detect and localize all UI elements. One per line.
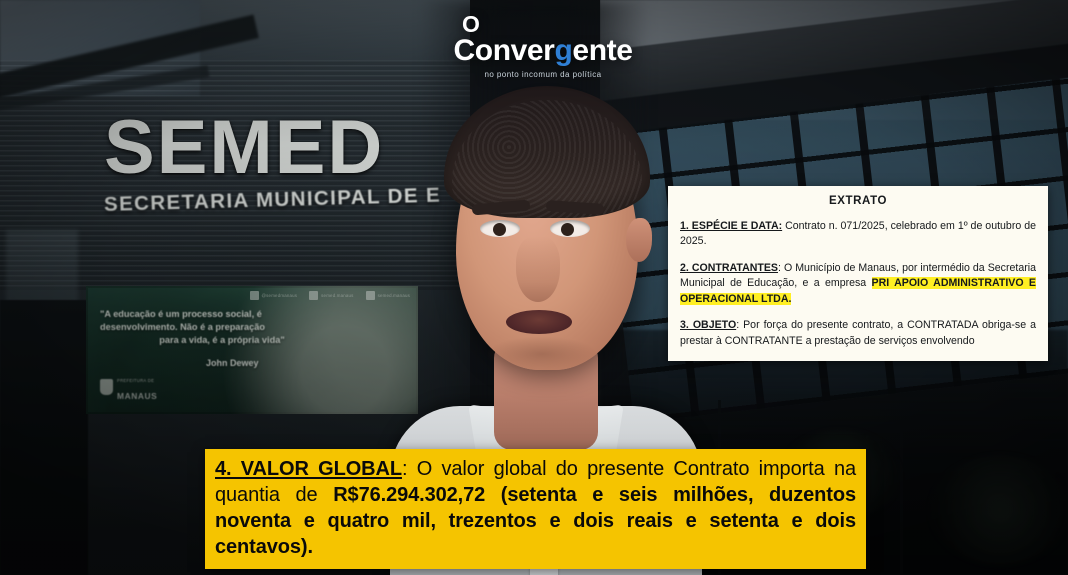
logo-wordmark: Convergente bbox=[453, 36, 633, 66]
document-title: EXTRATO bbox=[680, 195, 1036, 207]
mouth bbox=[506, 310, 572, 334]
chin-shadow bbox=[486, 336, 598, 372]
ear bbox=[626, 218, 652, 262]
banner-quote-author: John Dewey bbox=[206, 358, 259, 368]
logo-word-after: ente bbox=[572, 34, 632, 67]
label-especie-e-data: 1. ESPÉCIE E DATA: bbox=[680, 220, 782, 232]
contract-extract-panel: EXTRATO 1. ESPÉCIE E DATA: Contrato n. 0… bbox=[668, 186, 1048, 361]
callout-label: 4. VALOR GLOBAL bbox=[215, 458, 402, 480]
valor-global-callout: 4. VALOR GLOBAL: O valor global do prese… bbox=[205, 449, 866, 569]
manaus-city-logo: PREFEITURA DE MANAUS bbox=[100, 370, 157, 404]
nose bbox=[516, 236, 560, 302]
document-paragraph-contratantes: 2. CONTRATANTES: O Município de Manaus, … bbox=[680, 261, 1036, 307]
pupil-left bbox=[493, 223, 506, 236]
document-paragraph-objeto: 3. OBJETO: Por força do presente contrat… bbox=[680, 318, 1036, 349]
quote-line-3: para a vida, é a própria vida" bbox=[100, 334, 330, 347]
city-logo-top-text: PREFEITURA DE bbox=[117, 378, 154, 383]
news-graphic-composite: SEMED SECRETARIA MUNICIPAL DE E @semedma… bbox=[0, 0, 1068, 575]
pupil-right bbox=[561, 223, 574, 236]
banner-quote: "A educação é um processo social, é dese… bbox=[100, 308, 330, 347]
light-pole-secondary bbox=[900, 430, 903, 575]
label-objeto: 3. OBJETO bbox=[680, 319, 736, 331]
hair bbox=[444, 86, 650, 218]
facebook-icon: semed.manaus bbox=[309, 291, 353, 300]
quote-line-2: desenvolvimento. Não é a preparação bbox=[100, 322, 265, 332]
callout-body: 4. VALOR GLOBAL: O valor global do prese… bbox=[215, 456, 856, 560]
facebook-handle: semed.manaus bbox=[321, 293, 353, 298]
dewey-quote-banner: @semedmanaus semed.manaus semed.manaus "… bbox=[86, 286, 418, 414]
banner-social-row: @semedmanaus semed.manaus semed.manaus bbox=[250, 291, 411, 300]
logo-tagline: no ponto incomum da política bbox=[453, 71, 633, 79]
quote-line-1: "A educação é um processo social, é bbox=[100, 309, 262, 319]
label-contratantes: 2. CONTRATANTES bbox=[680, 262, 778, 274]
twitter-handle: @semedmanaus bbox=[262, 293, 298, 298]
twitter-icon: @semedmanaus bbox=[250, 291, 298, 300]
crest-icon bbox=[100, 379, 113, 395]
document-paragraph-especie-data: 1. ESPÉCIE E DATA: Contrato n. 071/2025,… bbox=[680, 219, 1036, 250]
logo-word-g-accent: g bbox=[554, 34, 572, 67]
site-logo[interactable]: O Convergente no ponto incomum da políti… bbox=[453, 14, 633, 79]
logo-o-letter: O bbox=[462, 14, 633, 36]
city-logo-main-text: MANAUS bbox=[117, 391, 157, 401]
foliage-silhouette-right bbox=[930, 455, 1068, 565]
facade-doorway-shadow bbox=[0, 300, 88, 575]
logo-word-before: Conver bbox=[454, 34, 555, 67]
